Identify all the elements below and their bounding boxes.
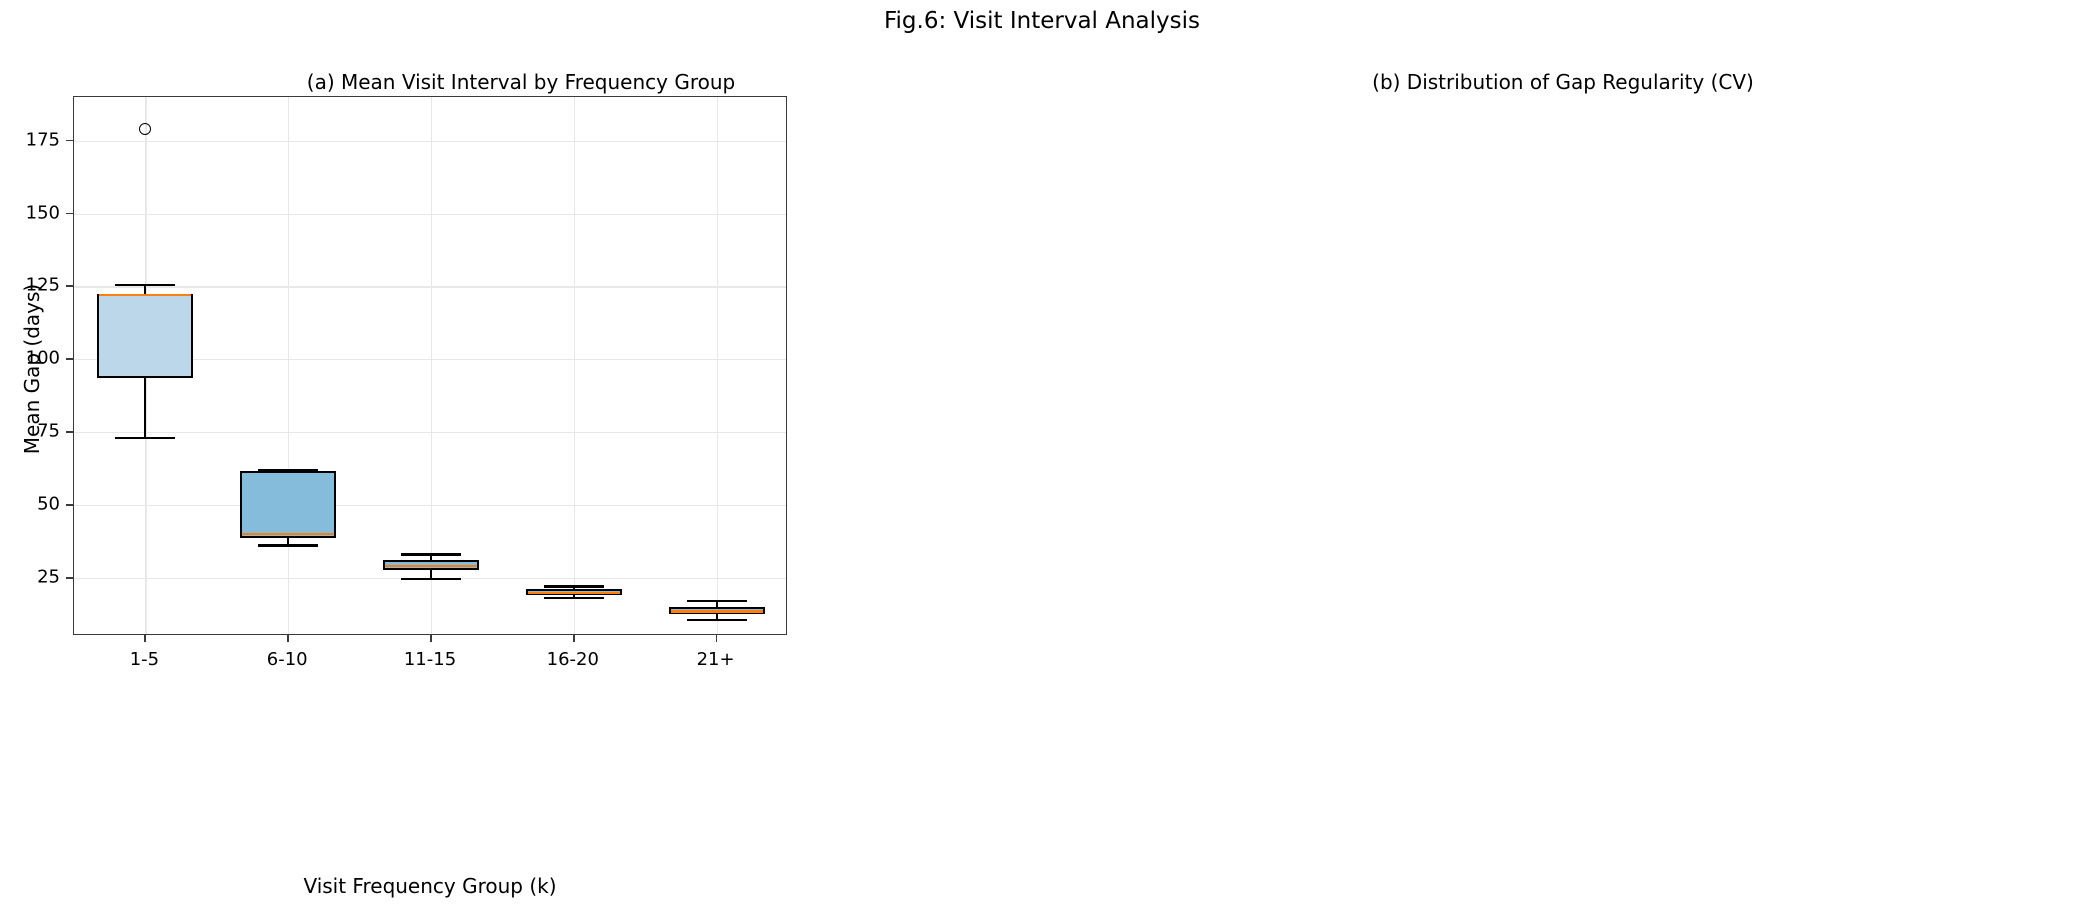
gridline-vertical <box>288 97 289 634</box>
x-tick-label-1-5: 1-5 <box>130 649 159 670</box>
median-line-16-20 <box>528 592 620 595</box>
whisker-lower <box>144 378 146 438</box>
gridline-horizontal <box>74 286 786 287</box>
cap-upper <box>544 585 604 587</box>
panel-a-ylabel: Mean Gap (days) <box>20 219 44 519</box>
y-tick-mark <box>66 213 73 215</box>
cap-lower <box>687 619 747 621</box>
gridline-vertical <box>574 97 575 634</box>
cap-lower <box>258 544 318 546</box>
panel-b-histogram: (b) Distribution of Gap Regularity (CV) … <box>1042 0 2084 924</box>
y-tick-label: 175 <box>0 129 60 150</box>
y-tick-mark <box>66 285 73 287</box>
x-tick-label-21+: 21+ <box>697 649 735 670</box>
cap-lower <box>115 437 175 439</box>
x-tick-label-11-15: 11-15 <box>404 649 456 670</box>
median-line-11-15 <box>385 565 477 568</box>
cap-upper <box>401 553 461 555</box>
cap-upper <box>687 600 747 602</box>
x-tick-label-6-10: 6-10 <box>267 649 308 670</box>
box-1-5[interactable] <box>97 294 193 378</box>
panel-a-title: (a) Mean Visit Interval by Frequency Gro… <box>0 70 1042 94</box>
gridline-horizontal <box>74 141 786 142</box>
gridline-horizontal <box>74 214 786 215</box>
y-tick-mark <box>66 504 73 506</box>
panel-a-xlabel: Visit Frequency Group (k) <box>73 874 787 898</box>
median-line-1-5 <box>99 294 191 297</box>
y-tick-mark <box>66 140 73 142</box>
panel-a-boxplot: (a) Mean Visit Interval by Frequency Gro… <box>0 0 1042 924</box>
cap-upper <box>115 284 175 286</box>
median-line-6-10 <box>242 533 334 536</box>
y-tick-mark <box>66 431 73 433</box>
x-tick-mark <box>287 635 289 642</box>
gridline-horizontal <box>74 432 786 433</box>
panel-a-plot-area <box>73 96 787 635</box>
median-line-21+ <box>671 610 763 613</box>
x-tick-mark <box>144 635 146 642</box>
x-tick-label-16-20: 16-20 <box>547 649 599 670</box>
cap-lower <box>401 578 461 580</box>
y-tick-mark <box>66 577 73 579</box>
gridline-horizontal <box>74 505 786 506</box>
x-tick-mark <box>573 635 575 642</box>
gridline-vertical <box>717 97 718 634</box>
y-tick-mark <box>66 358 73 360</box>
box-6-10[interactable] <box>240 471 336 538</box>
y-tick-label: 25 <box>0 566 60 587</box>
cap-lower <box>544 597 604 599</box>
outlier-point[interactable] <box>139 123 151 135</box>
panel-b-title: (b) Distribution of Gap Regularity (CV) <box>1042 70 2084 94</box>
x-tick-mark <box>716 635 718 642</box>
x-tick-mark <box>430 635 432 642</box>
whisker-upper <box>144 285 146 294</box>
